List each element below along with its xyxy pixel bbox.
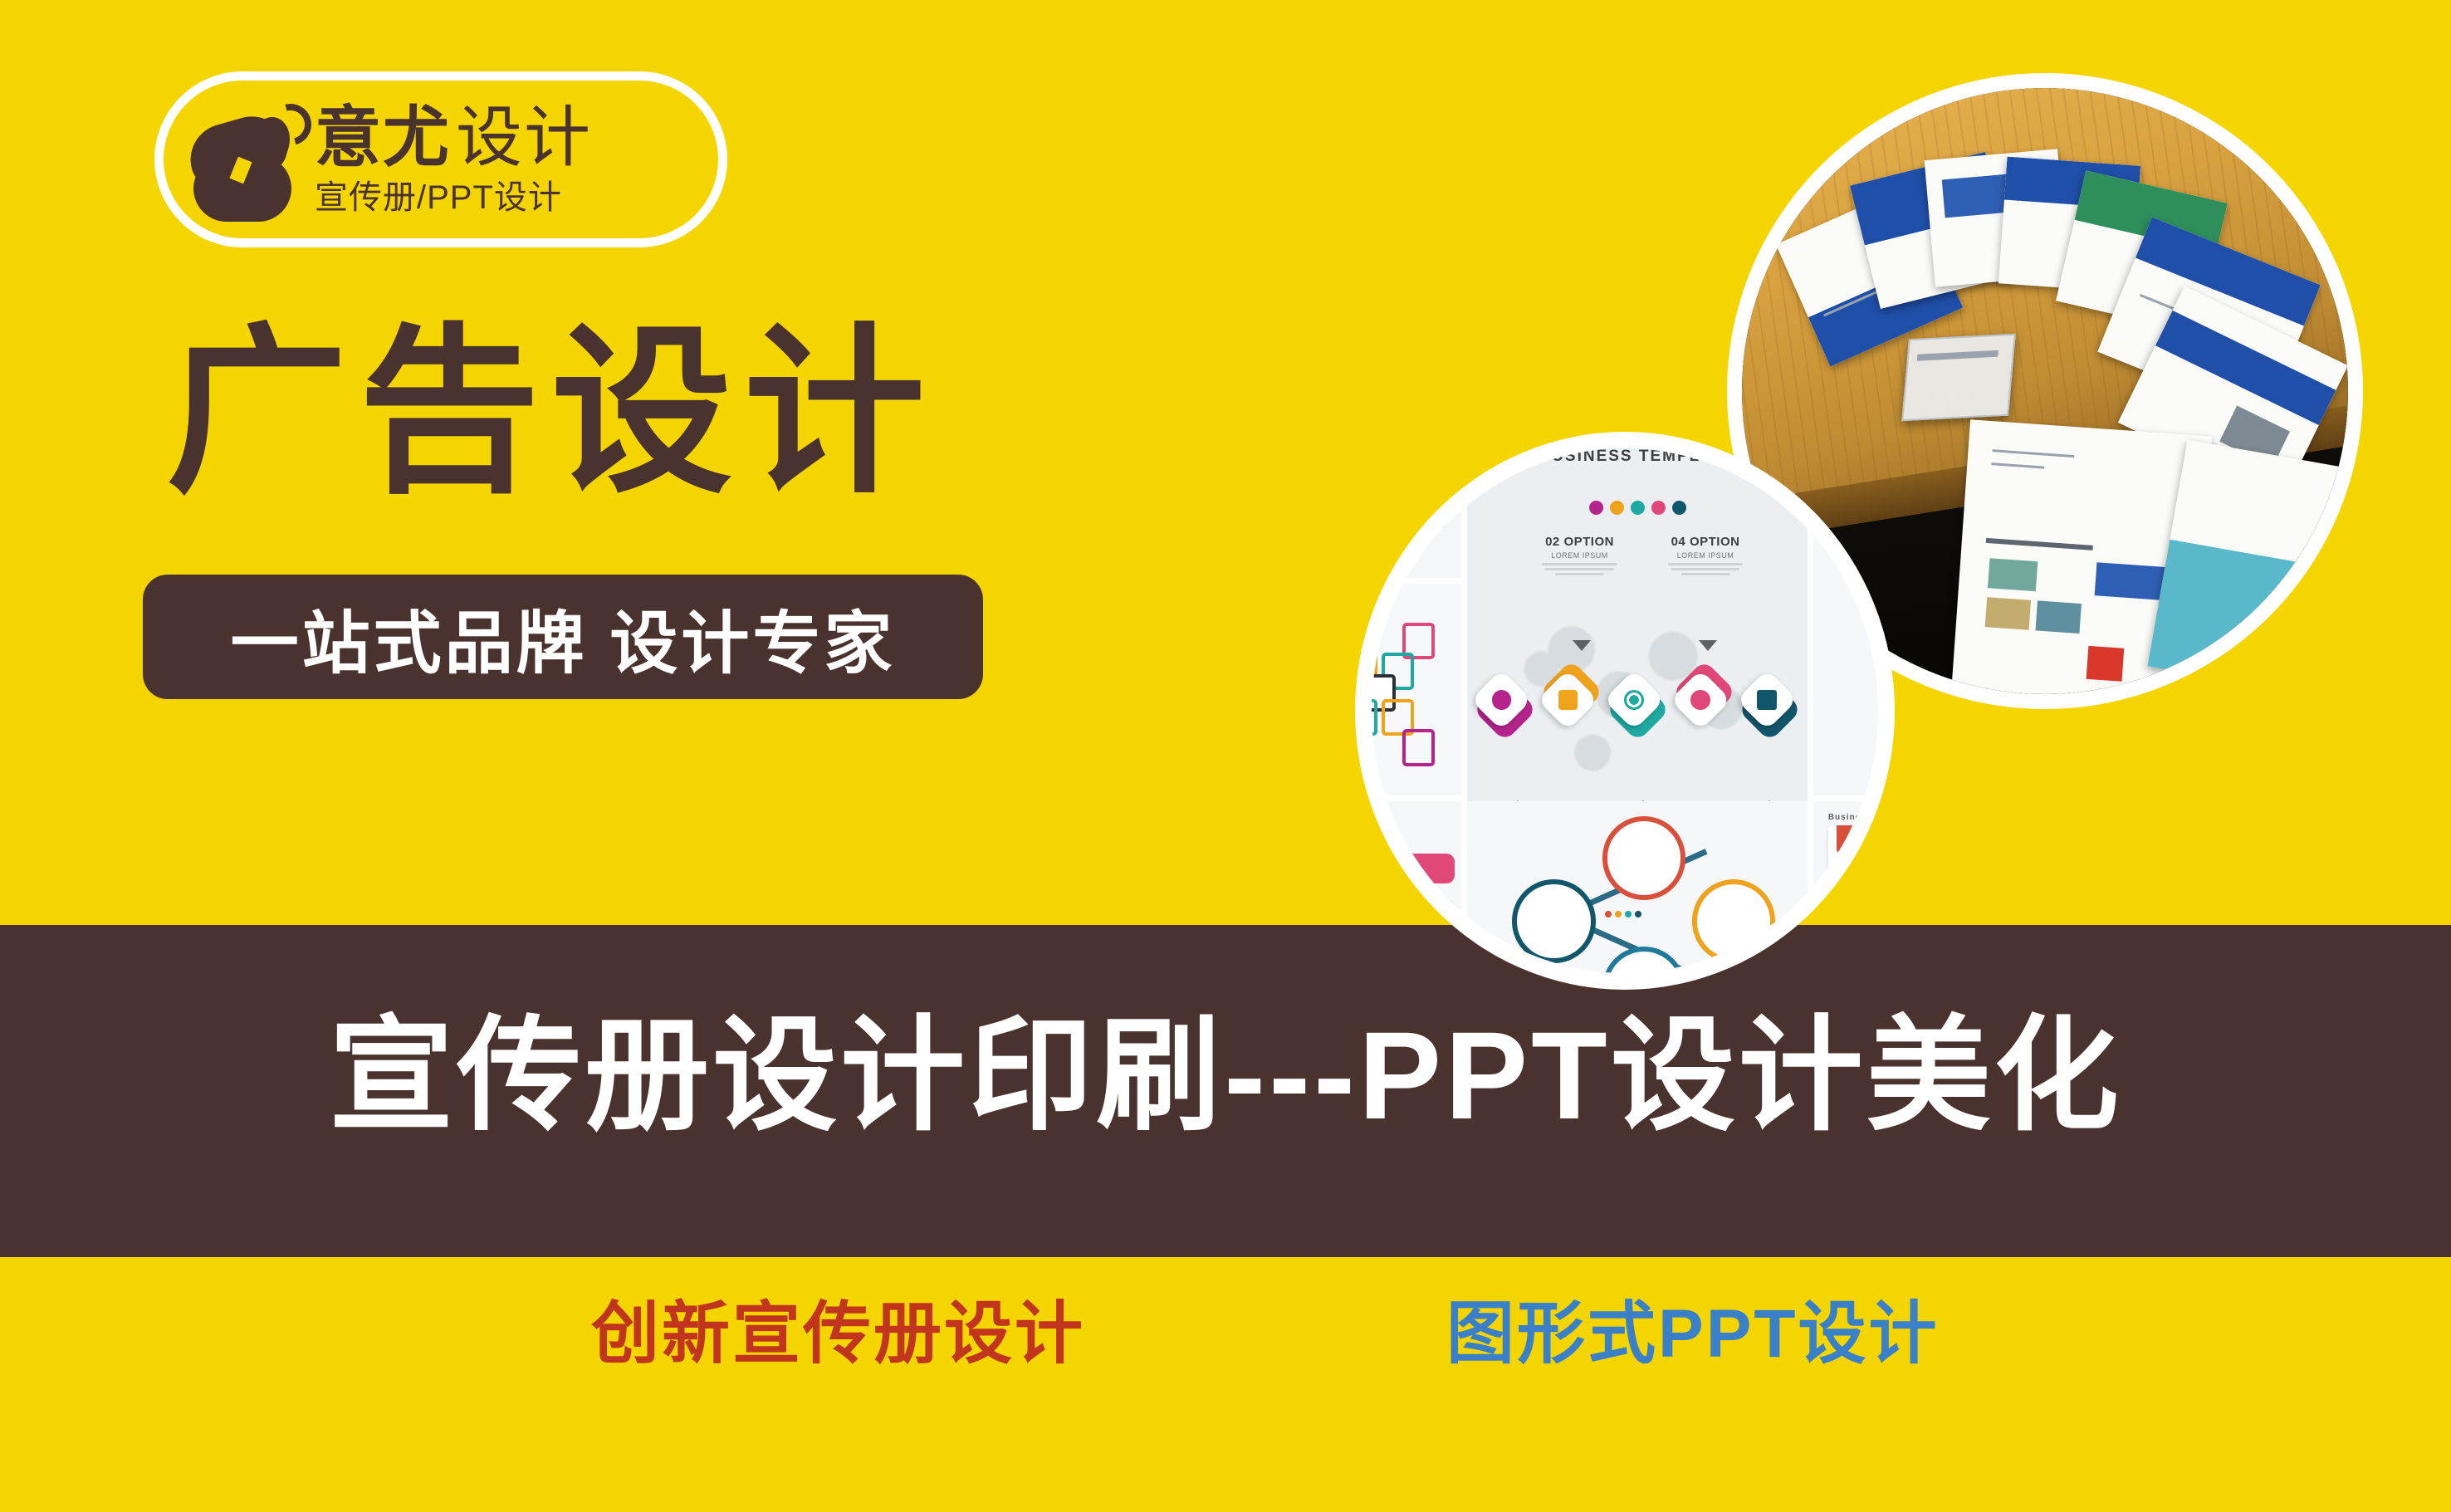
brochure-photo-block bbox=[2036, 600, 2082, 634]
world-map-background bbox=[1821, 516, 1878, 668]
advertising-banner: 意尤 设计 宣传册/PPT设计 广告设计 一站式品牌 设计专家 bbox=[0, 0, 2451, 1512]
option-title: 02 OPTION bbox=[1539, 535, 1620, 549]
brand-name: 意尤 设计 bbox=[315, 105, 592, 171]
ppt-diamond-02 bbox=[1544, 677, 1598, 731]
cone-label-bar bbox=[1372, 854, 1455, 884]
ppt-mini-slide-ribbons bbox=[1372, 448, 1461, 578]
ppt-diamond-01 bbox=[1478, 677, 1532, 731]
ppt-mini-slide-cross bbox=[1372, 584, 1461, 796]
ppt-mini-slide-right: Business bbox=[1813, 448, 1878, 795]
option-subtitle: LOREM IPSUM bbox=[1665, 551, 1746, 560]
brochure-photo-block bbox=[1984, 596, 2030, 630]
cross-diagram bbox=[1372, 614, 1441, 766]
ppt-mini-slide-hexcycle bbox=[1467, 801, 1807, 973]
ppt-mini-slide-cone: Business Template bbox=[1372, 801, 1461, 973]
brand-name-strong: 意尤 bbox=[315, 105, 451, 171]
option-body-lines bbox=[1665, 563, 1746, 575]
option-title: 04 OPTION bbox=[1665, 535, 1746, 549]
briefcase-icon bbox=[1757, 690, 1777, 710]
hex-node-03 bbox=[1602, 947, 1685, 973]
option-subtitle: LOREM IPSUM bbox=[1539, 551, 1620, 560]
ppt-diamond-05 bbox=[1743, 677, 1797, 731]
ppt-option-label-02: 02 OPTION LOREM IPSUM bbox=[1539, 535, 1620, 578]
ppt-slide-grid: Business Template bbox=[1372, 448, 1878, 973]
step-card-line bbox=[1838, 972, 1878, 973]
pointer-down-icon bbox=[1699, 640, 1717, 651]
ppt-option-label-04: 04 OPTION LOREM IPSUM bbox=[1665, 535, 1746, 578]
cone-label-bar bbox=[1372, 900, 1455, 931]
step-card-line bbox=[1838, 964, 1878, 966]
ppt-diamond-03 bbox=[1610, 677, 1664, 731]
brand-name-thin: 设计 bbox=[456, 105, 592, 171]
ribbon-bar bbox=[1372, 504, 1445, 528]
brochure-text-line bbox=[1992, 449, 2074, 458]
step-card-grid bbox=[1828, 825, 1878, 973]
hex-node-02 bbox=[1692, 879, 1775, 962]
bottom-label-brochure: 创新宣传册设计 bbox=[591, 1300, 1085, 1368]
pointer-down-icon bbox=[1573, 640, 1591, 651]
brochure-logo-stamp bbox=[2086, 645, 2125, 681]
ribbon-bar bbox=[1372, 448, 1441, 463]
step-card-line bbox=[1838, 872, 1878, 874]
bottom-label-ppt: 图形式PPT设计 bbox=[1446, 1300, 1939, 1368]
step-card bbox=[1828, 825, 1878, 913]
page-title: 广告设计 bbox=[166, 316, 937, 511]
option-body-lines bbox=[1539, 563, 1620, 575]
band-headline: 宣传册设计印刷---PPT设计美化 bbox=[0, 975, 2451, 1155]
ribbon-bar bbox=[1372, 472, 1451, 496]
ppt-slide-title: BUSINESS TEMPLATE bbox=[1467, 448, 1807, 466]
brand-logo-text: 意尤 设计 宣传册/PPT设计 bbox=[315, 105, 592, 214]
rocket-icon bbox=[1558, 690, 1578, 710]
ppt-mini-slide-steps: Business Template bbox=[1813, 801, 1878, 973]
brand-tagline: 宣传册/PPT设计 bbox=[315, 181, 592, 214]
cone-label-bar bbox=[1372, 947, 1455, 973]
hex-cycle-diagram bbox=[1501, 820, 1773, 973]
bar-chart-icon bbox=[1859, 893, 1871, 904]
ppt-template-collage: Business Template bbox=[1355, 432, 1895, 990]
brochure-color-band bbox=[2147, 540, 2325, 694]
ppt-diamond-row bbox=[1478, 677, 1798, 731]
brochure-text-line bbox=[1986, 538, 2093, 550]
mini-slide-header: Business Template bbox=[1372, 813, 1393, 822]
step-card bbox=[1828, 925, 1878, 973]
step-card-header bbox=[1837, 925, 1878, 955]
mini-slide-header: Business Template bbox=[1828, 813, 1878, 822]
cross-cell bbox=[1372, 699, 1377, 736]
brand-logo-badge: 意尤 设计 宣传册/PPT设计 bbox=[154, 71, 727, 247]
brochure-photo-block bbox=[1988, 558, 2038, 592]
clock-icon bbox=[1690, 690, 1710, 710]
ppt-diamond-04 bbox=[1676, 677, 1730, 731]
subtitle-text: 一站式品牌 设计专家 bbox=[231, 588, 896, 687]
magnifier-icon bbox=[1492, 690, 1512, 710]
brochure-text-line bbox=[1991, 462, 2044, 468]
step-card-header bbox=[1837, 825, 1878, 855]
target-icon bbox=[1624, 690, 1644, 710]
hex-center-dots bbox=[1605, 911, 1641, 917]
hex-node-01 bbox=[1602, 816, 1685, 899]
hex-node-04 bbox=[1512, 879, 1595, 962]
business-card-holder bbox=[1901, 334, 2016, 421]
ppt-palette-dots bbox=[1467, 501, 1807, 515]
ppt-collage-inner: Business Template bbox=[1372, 448, 1878, 973]
sprouting-seed-logo-icon bbox=[183, 97, 300, 222]
step-card-line bbox=[1838, 864, 1878, 866]
cross-cell bbox=[1402, 729, 1435, 766]
subtitle-pill: 一站式品牌 设计专家 bbox=[143, 575, 983, 699]
